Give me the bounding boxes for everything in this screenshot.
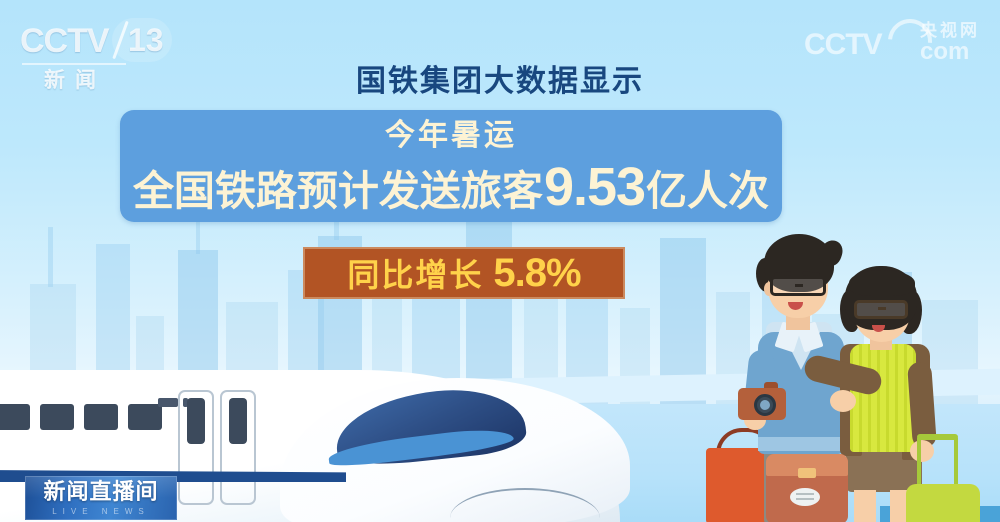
page-title: 国铁集团大数据显示 [0,56,1000,100]
live-news-bug: 新闻直播间 LIVE NEWS [25,476,177,520]
train-window [0,404,30,430]
live-news-subtitle: LIVE NEWS [52,507,150,516]
luggage-tag [790,488,820,506]
green-suitcase-handle-bar [917,434,958,440]
banner-line-two: 全国铁路预计发送旅客 9.53 亿人次 [133,160,769,214]
broadcast-screenshot: CCTV 13 新闻 CCTV 央视网 com 国铁集团大数据显示 今年暑运 全… [0,0,1000,522]
camera-lens-highlight [760,400,770,410]
woman-glasses-bridge [878,307,886,310]
green-rolling-suitcase [906,484,980,522]
luggage-tag-line [796,493,814,495]
brown-suitcase-clasp [798,468,816,478]
cctv-channel-number: 13 [128,22,164,59]
train-window [40,404,74,430]
woman-leg-left [854,490,876,522]
woman-hair-bangs [849,270,915,296]
growth-badge-value: 5.8% [493,251,580,296]
growth-badge-label: 同比增长 [347,250,483,296]
main-statistic-banner: 今年暑运 全国铁路预计发送旅客 9.53 亿人次 [120,110,782,222]
train-window [128,404,162,430]
luggage-tag-line [796,498,814,500]
banner-line-two-suffix: 亿人次 [646,171,769,212]
train-door-window [229,398,247,444]
banner-line-two-prefix: 全国铁路预计发送旅客 [133,171,543,212]
banner-line-one: 今年暑运 [385,121,517,151]
woman-right-hand [910,440,934,462]
train-window [84,404,118,430]
man-right-hand [830,390,856,412]
live-bar-sheen [25,476,177,498]
man-sweater-waistband [758,437,844,451]
train-door-window [187,398,205,444]
banner-passenger-number: 9.53 [544,160,645,214]
growth-badge: 同比增长 5.8% [303,247,625,299]
traveler-characters-illustration [742,232,987,522]
growth-badge-text: 同比增长 5.8% [347,250,580,296]
train-marking [158,398,178,407]
man-glasses-bridge [795,284,803,287]
woman-top-stripes [850,344,916,452]
